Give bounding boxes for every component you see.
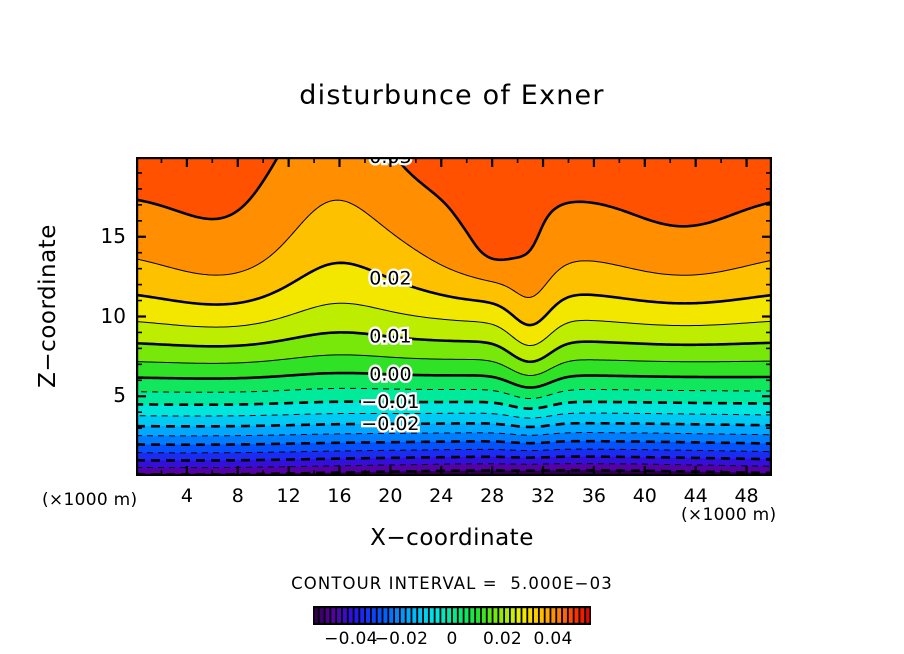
colorbar-band [488, 608, 492, 623]
x-tick-label: 20 [367, 485, 413, 507]
y-tick-label: 10 [84, 304, 126, 328]
colorbar-band [575, 608, 579, 623]
colorbar-band [517, 608, 521, 623]
colorbar-band [551, 608, 555, 623]
figure-root: disturbunce of Exner Z−coordinate X−coor… [0, 0, 904, 654]
x-tick-label: 36 [571, 485, 617, 507]
x-tick-label: 32 [520, 485, 566, 507]
colorbar-band [563, 608, 567, 623]
colorbar-band [378, 608, 382, 623]
colorbar-band [424, 608, 428, 623]
y-axis-units-note: (×1000 m) [42, 490, 137, 510]
x-tick-label: 48 [724, 485, 770, 507]
colorbar-band [389, 608, 393, 623]
colorbar-band [557, 608, 561, 623]
contour-plot: 0.030.020.010.00−0.01−0.02 [136, 157, 772, 476]
colorbar-band [470, 608, 474, 623]
colorbar-band [476, 608, 480, 623]
colorbar-band [482, 608, 486, 623]
y-tick-label: 5 [84, 383, 126, 407]
x-tick-label: 44 [673, 485, 719, 507]
colorbar-band [534, 608, 538, 623]
contour-label: −0.02 [361, 413, 419, 435]
colorbar-band [569, 608, 573, 623]
colorbar-band [349, 608, 353, 623]
colorbar-band [395, 608, 399, 623]
y-tick-label: 15 [84, 224, 126, 248]
colorbar-band [354, 608, 358, 623]
colorbar-band [528, 608, 532, 623]
x-tick-label: 16 [317, 485, 363, 507]
colorbar-band [511, 608, 515, 623]
colorbar-tick-label: 0.04 [522, 629, 584, 649]
colorbar-band [320, 608, 324, 623]
x-tick-label: 40 [622, 485, 668, 507]
colorbar-band [325, 608, 329, 623]
page-title: disturbunce of Exner [0, 80, 904, 111]
colorbar-band [522, 608, 526, 623]
x-tick-label: 4 [164, 485, 210, 507]
x-axis-label: X−coordinate [0, 525, 904, 551]
colorbar-band [383, 608, 387, 623]
colorbar-band [464, 608, 468, 623]
colorbar-band [453, 608, 457, 623]
contour-label: 0.00 [369, 363, 411, 385]
colorbar-band [499, 608, 503, 623]
colorbar-band [407, 608, 411, 623]
colorbar-band [418, 608, 422, 623]
y-axis-label: Z−coordinate [35, 196, 61, 416]
colorbar-band [343, 608, 347, 623]
colorbar-band [546, 608, 550, 623]
colorbar-band [436, 608, 440, 623]
contour-canvas: 0.030.020.010.00−0.01−0.02 [136, 157, 772, 476]
colorbar-band [505, 608, 509, 623]
colorbar-swatches [313, 606, 591, 625]
x-tick-label: 28 [469, 485, 515, 507]
colorbar-band [372, 608, 376, 623]
contour-interval-text: CONTOUR INTERVAL = 5.000E−03 [0, 574, 904, 593]
colorbar-band [441, 608, 445, 623]
colorbar-band [459, 608, 463, 623]
colorbar-band [540, 608, 544, 623]
x-tick-label: 12 [266, 485, 312, 507]
colorbar-band [412, 608, 416, 623]
colorbar-band [401, 608, 405, 623]
colorbar-band [331, 608, 335, 623]
colorbar-band [447, 608, 451, 623]
colorbar-band [493, 608, 497, 623]
colorbar-band [337, 608, 341, 623]
colorbar-band [360, 608, 364, 623]
colorbar-band [430, 608, 434, 623]
colorbar [313, 606, 591, 625]
contour-label: 0.01 [369, 326, 411, 348]
colorbar-band [580, 608, 584, 623]
x-tick-label: 24 [418, 485, 464, 507]
contour-label: 0.02 [369, 268, 411, 290]
colorbar-band [366, 608, 370, 623]
contour-fill-bands [136, 157, 772, 476]
x-axis-units-note: (×1000 m) [681, 505, 776, 525]
x-tick-label: 8 [215, 485, 261, 507]
contour-label: −0.01 [361, 391, 419, 413]
